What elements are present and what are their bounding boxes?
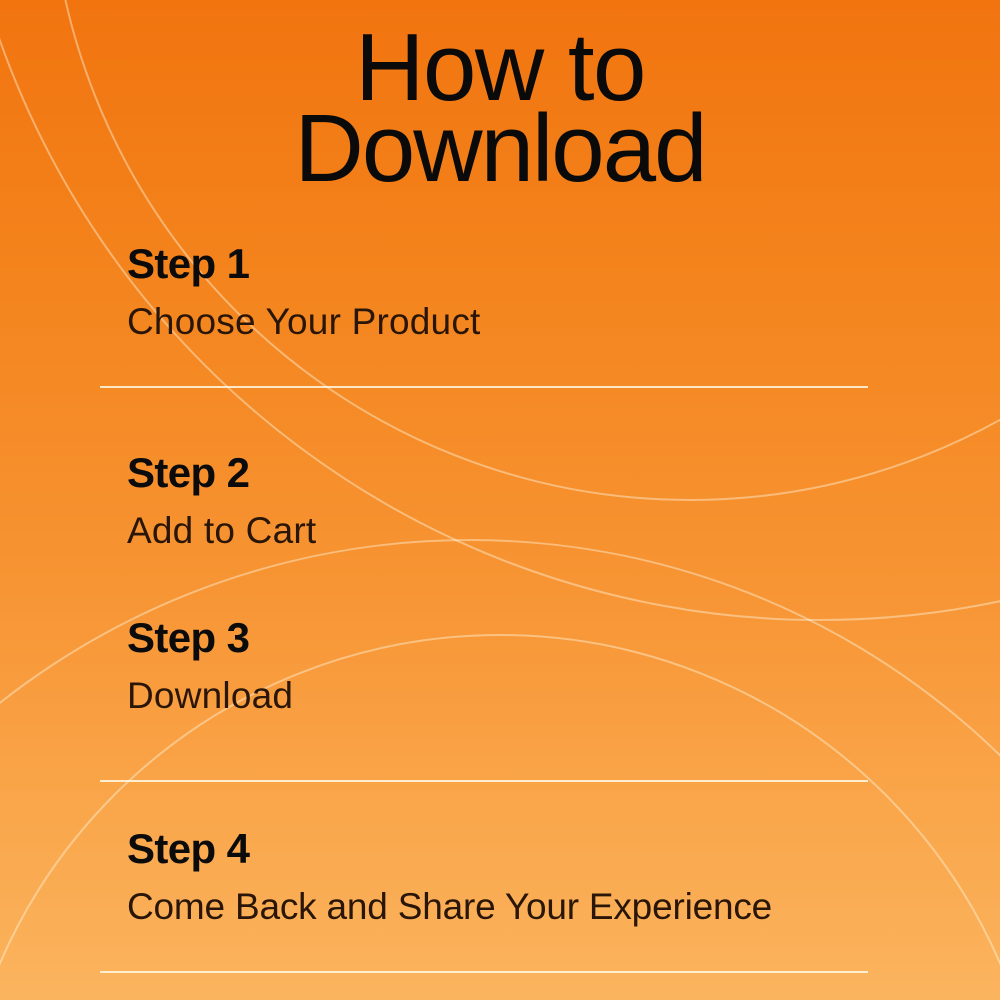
step-item-3: Step 3 Download	[100, 617, 868, 714]
step-label-4: Step 4	[100, 828, 868, 870]
spacer-1	[100, 340, 868, 386]
spacer-5	[100, 782, 868, 828]
how-to-download-poster: How to Download Step 1 Choose Your Produ…	[0, 0, 1000, 1000]
spacer-6	[100, 925, 868, 971]
steps-list: Step 1 Choose Your Product Step 2 Add to…	[100, 243, 868, 973]
page-title: How to Download	[0, 28, 1000, 189]
step-description-1: Choose Your Product	[100, 303, 868, 340]
step-description-2: Add to Cart	[100, 512, 868, 549]
spacer-4	[100, 714, 868, 780]
spacer-2	[100, 388, 868, 452]
step-label-2: Step 2	[100, 452, 868, 494]
step-item-2: Step 2 Add to Cart	[100, 452, 868, 549]
step-label-1: Step 1	[100, 243, 868, 285]
step-item-1: Step 1 Choose Your Product	[100, 243, 868, 340]
title-line-2: Download	[0, 109, 1000, 190]
step-item-4: Step 4 Come Back and Share Your Experien…	[100, 828, 868, 925]
step-description-4: Come Back and Share Your Experience	[100, 888, 868, 925]
step-label-3: Step 3	[100, 617, 868, 659]
step-description-3: Download	[100, 677, 868, 714]
step-divider-4	[100, 971, 868, 973]
spacer-3	[100, 549, 868, 617]
